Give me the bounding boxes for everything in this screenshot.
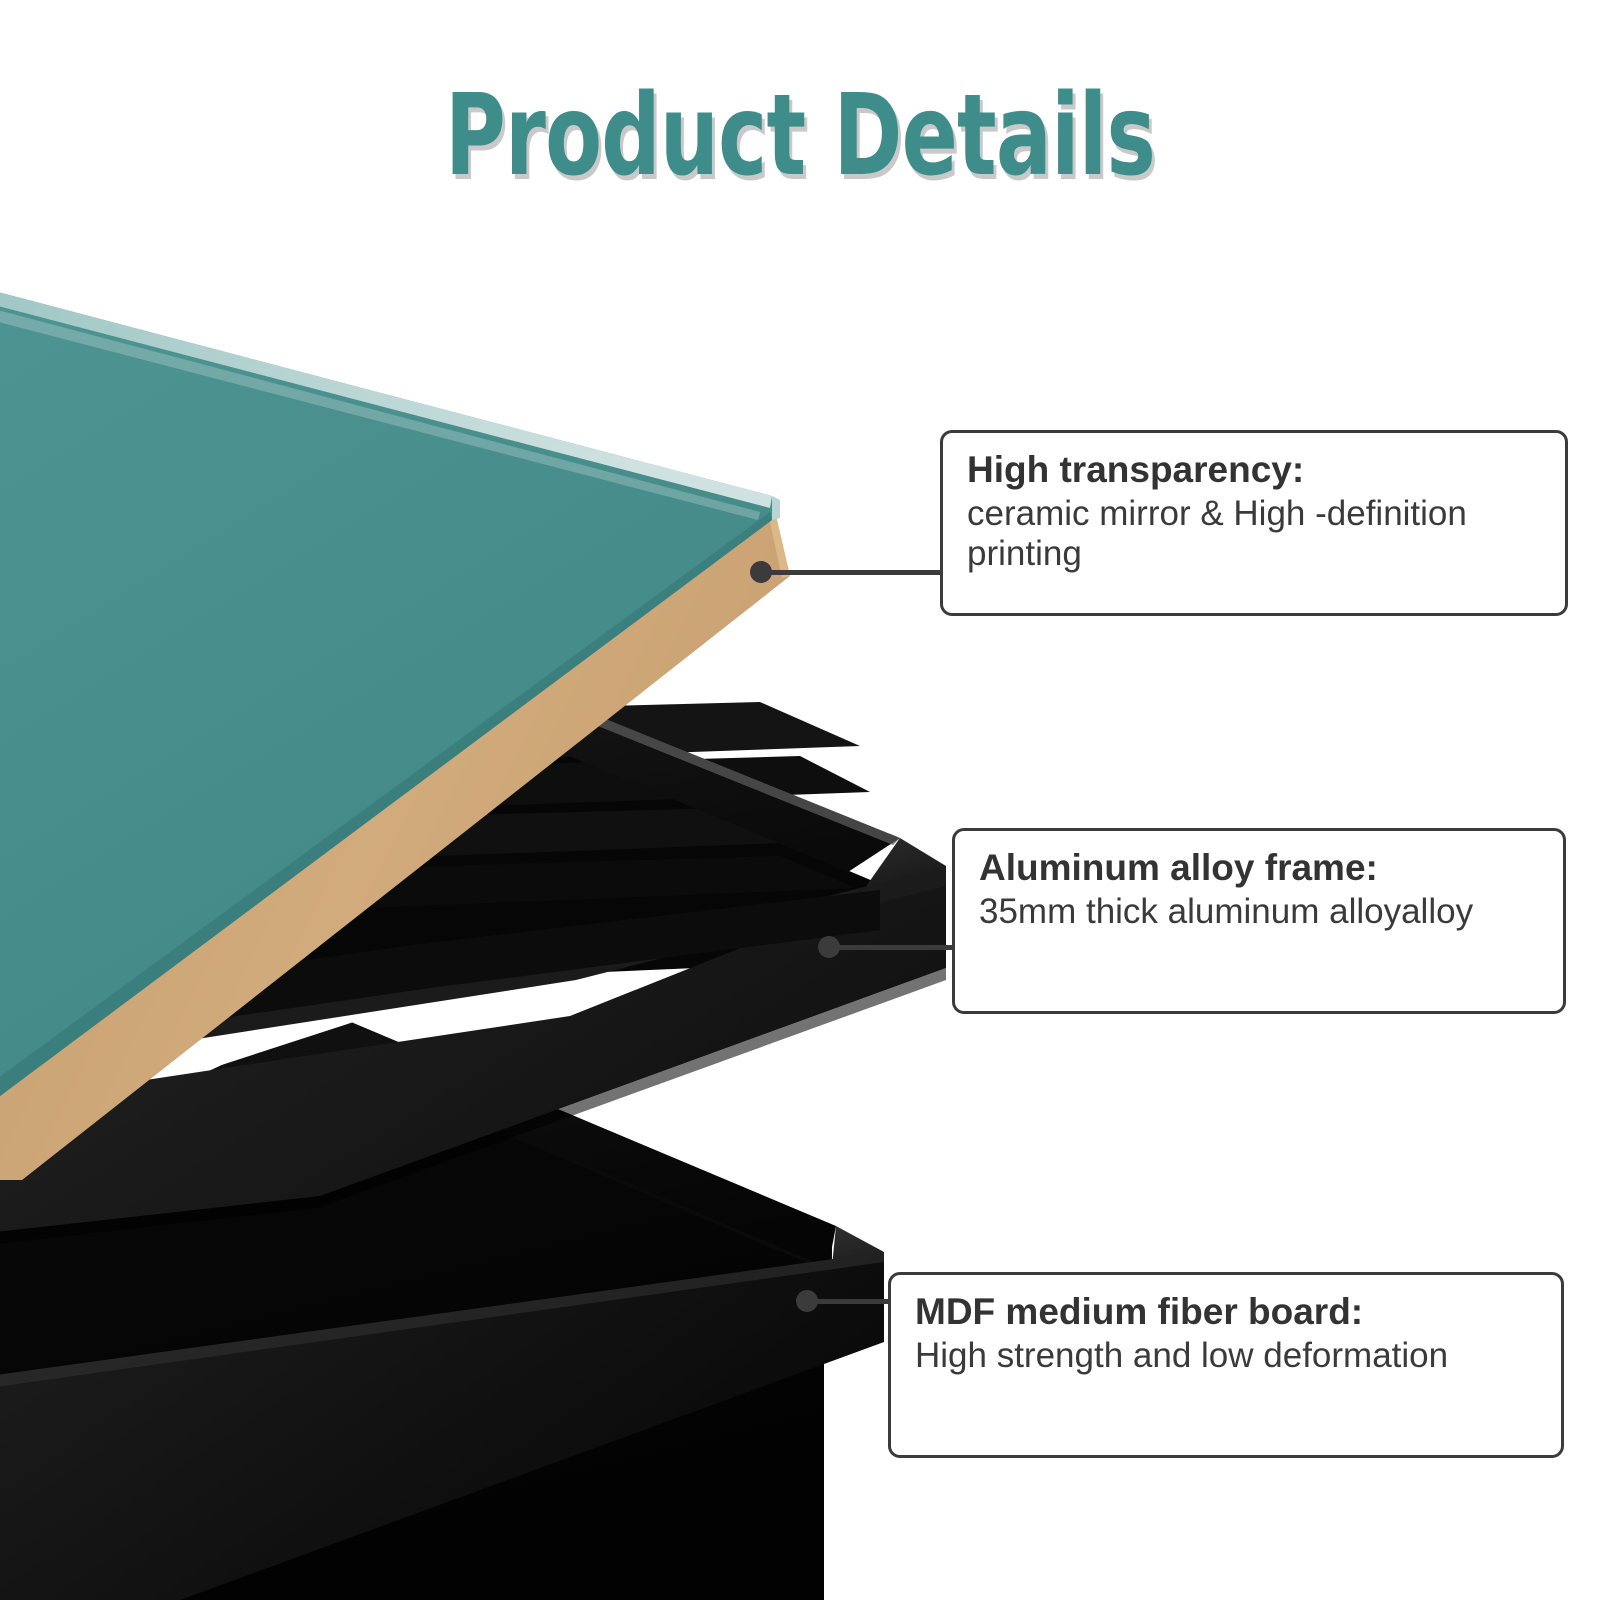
callout-title-high-transparency: High transparency: (967, 449, 1545, 490)
leader-line-mdf-medium-fiber-board (806, 1299, 892, 1304)
callout-mdf-medium-fiber-board: MDF medium fiber board: High strength an… (888, 1272, 1564, 1458)
callout-body-mdf-medium-fiber-board: High strength and low deformation (915, 1336, 1541, 1376)
callout-body-high-transparency: ceramic mirror & High -definition printi… (967, 494, 1545, 574)
callout-aluminum-alloy-frame: Aluminum alloy frame: 35mm thick aluminu… (952, 828, 1566, 1014)
product-details-infographic: Product Details (0, 0, 1600, 1600)
callout-title-mdf-medium-fiber-board: MDF medium fiber board: (915, 1291, 1541, 1332)
leader-line-aluminum-alloy-frame (828, 945, 956, 950)
callout-high-transparency: High transparency: ceramic mirror & High… (940, 430, 1568, 616)
callout-body-aluminum-alloy-frame: 35mm thick aluminum alloyalloy (979, 892, 1543, 932)
leader-line-high-transparency (760, 570, 944, 575)
callout-title-aluminum-alloy-frame: Aluminum alloy frame: (979, 847, 1543, 888)
